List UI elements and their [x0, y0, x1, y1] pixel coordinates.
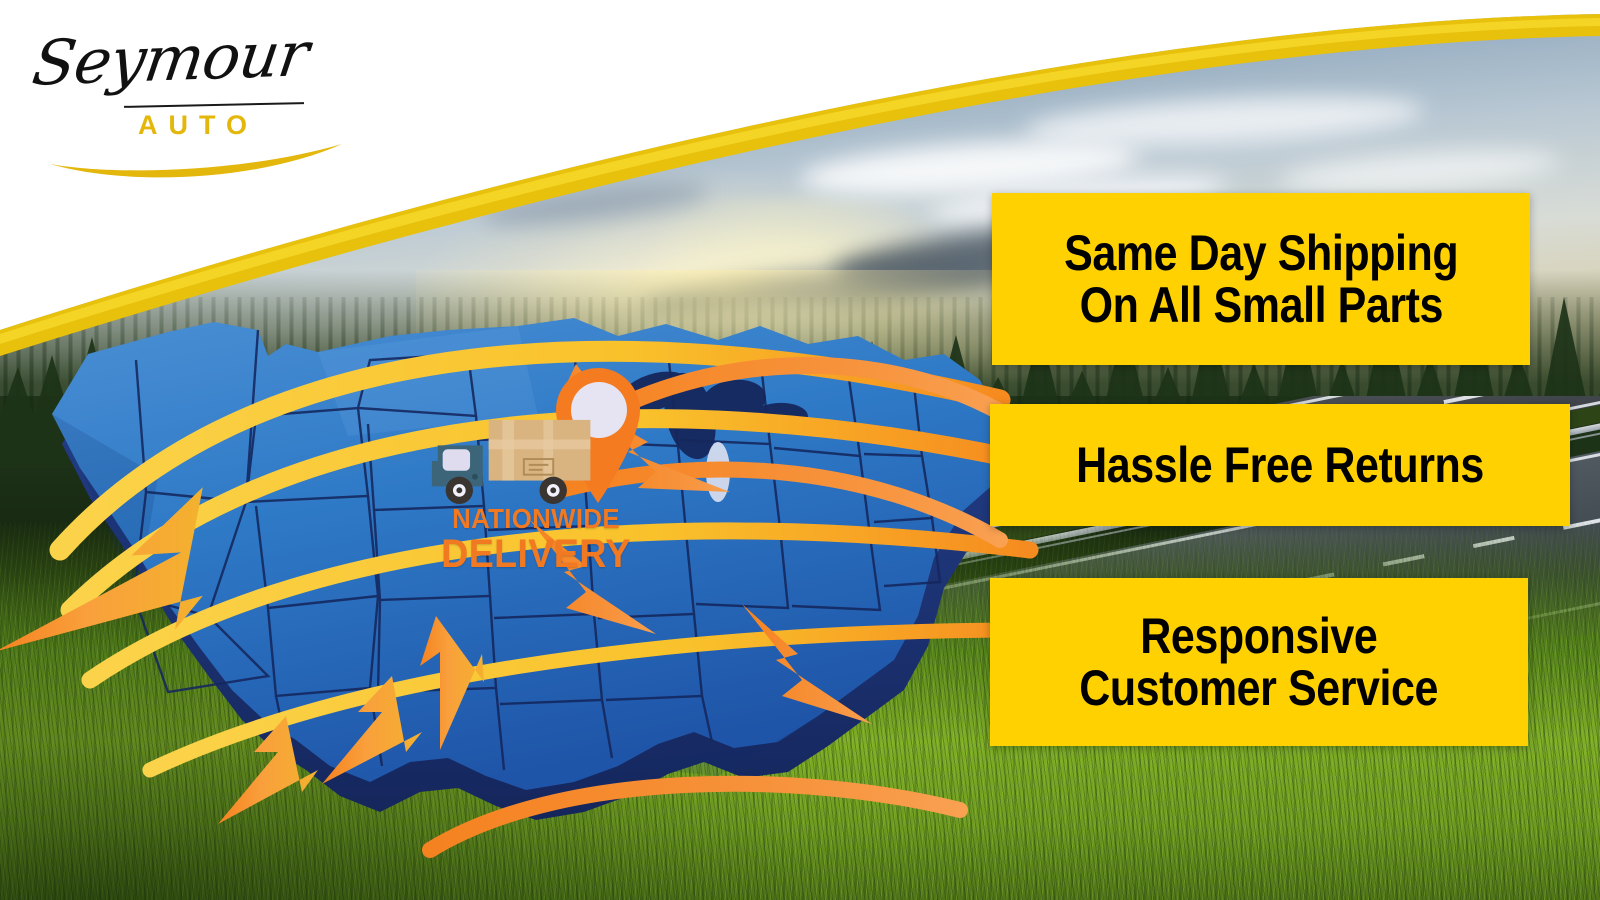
truck-wheel [446, 477, 473, 504]
logo-script-wordmark: Seymour [28, 17, 313, 99]
promo-banner: NATIONWIDE DELIVERY Seymour AUTO Same Da… [0, 0, 1600, 900]
truck-wheel [540, 477, 567, 504]
feature-badge-same-day-shipping[interactable]: Same Day Shipping On All Small Parts [992, 193, 1530, 365]
badge-line-2: Customer Service [1080, 662, 1439, 714]
delivery-line: DELIVERY [433, 535, 640, 573]
badge-line-1: Same Day Shipping [1064, 227, 1458, 279]
logo-underline [124, 102, 304, 108]
nationwide-delivery-badge: NATIONWIDE DELIVERY [428, 368, 658, 588]
badge-line-1: Hassle Free Returns [1076, 439, 1484, 491]
badge-line-2: On All Small Parts [1079, 279, 1442, 331]
feature-badge-hassle-free-returns[interactable]: Hassle Free Returns [990, 404, 1570, 526]
nationwide-delivery-label: NATIONWIDE DELIVERY [426, 506, 646, 573]
logo-swoosh-icon [46, 130, 346, 180]
brand-logo[interactable]: Seymour AUTO [28, 18, 348, 168]
badge-line-1: Responsive [1140, 610, 1377, 662]
nationwide-line: NATIONWIDE [435, 506, 637, 533]
lake-highlight [706, 442, 730, 502]
delivery-truck-icon [428, 416, 608, 506]
feature-badge-responsive-customer-service[interactable]: Responsive Customer Service [990, 578, 1528, 746]
